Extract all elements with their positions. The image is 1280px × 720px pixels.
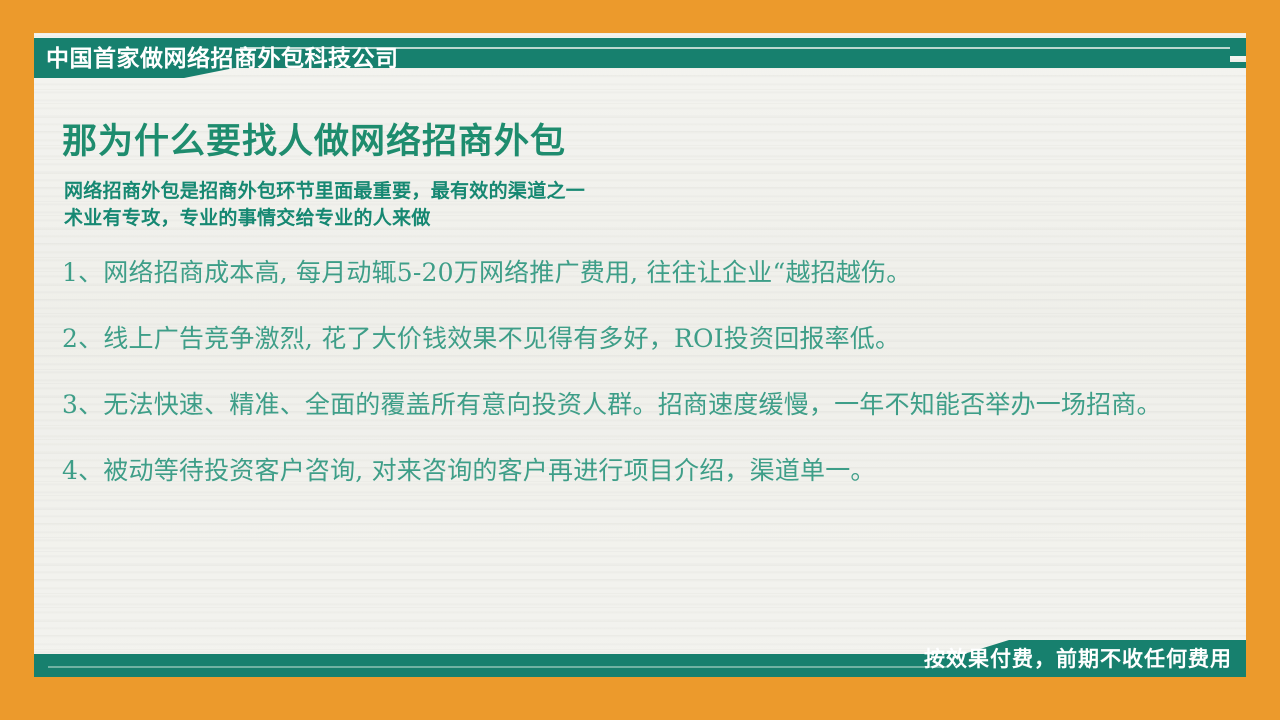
slide-canvas: 中国首家做网络招商外包科技公司 那为什么要找人做网络招商外包 网络招商外包是招商… bbox=[0, 0, 1280, 720]
subtitle-line-1: 网络招商外包是招商外包环节里面最重要，最有效的渠道之一 bbox=[64, 178, 1202, 205]
subtitle-block: 网络招商外包是招商外包环节里面最重要，最有效的渠道之一 术业有专攻，专业的事情交… bbox=[64, 178, 1202, 232]
page-title: 那为什么要找人做网络招商外包 bbox=[62, 120, 1202, 164]
footer-tagline: 按效果付费，前期不收任何费用 bbox=[924, 646, 1232, 674]
list-item: 2、线上广告竞争激烈, 花了大价钱效果不见得有多好，ROI投资回报率低。 bbox=[62, 320, 1202, 358]
footer-ribbon-line bbox=[48, 666, 948, 668]
reason-list: 1、网络招商成本高, 每月动辄5-20万网络推广费用, 往往让企业“越招越伤。 … bbox=[62, 254, 1202, 490]
header-title: 中国首家做网络招商外包科技公司 bbox=[46, 44, 476, 73]
list-item: 4、被动等待投资客户咨询, 对来咨询的客户再进行项目介绍，渠道单一。 bbox=[62, 452, 1202, 490]
subtitle-line-2: 术业有专攻，专业的事情交给专业的人来做 bbox=[64, 205, 1202, 232]
slide-content: 那为什么要找人做网络招商外包 网络招商外包是招商外包环节里面最重要，最有效的渠道… bbox=[62, 120, 1202, 490]
list-item: 3、无法快速、精准、全面的覆盖所有意向投资人群。招商速度缓慢，一年不知能否举办一… bbox=[62, 386, 1202, 424]
list-item: 1、网络招商成本高, 每月动辄5-20万网络推广费用, 往往让企业“越招越伤。 bbox=[62, 254, 1202, 292]
